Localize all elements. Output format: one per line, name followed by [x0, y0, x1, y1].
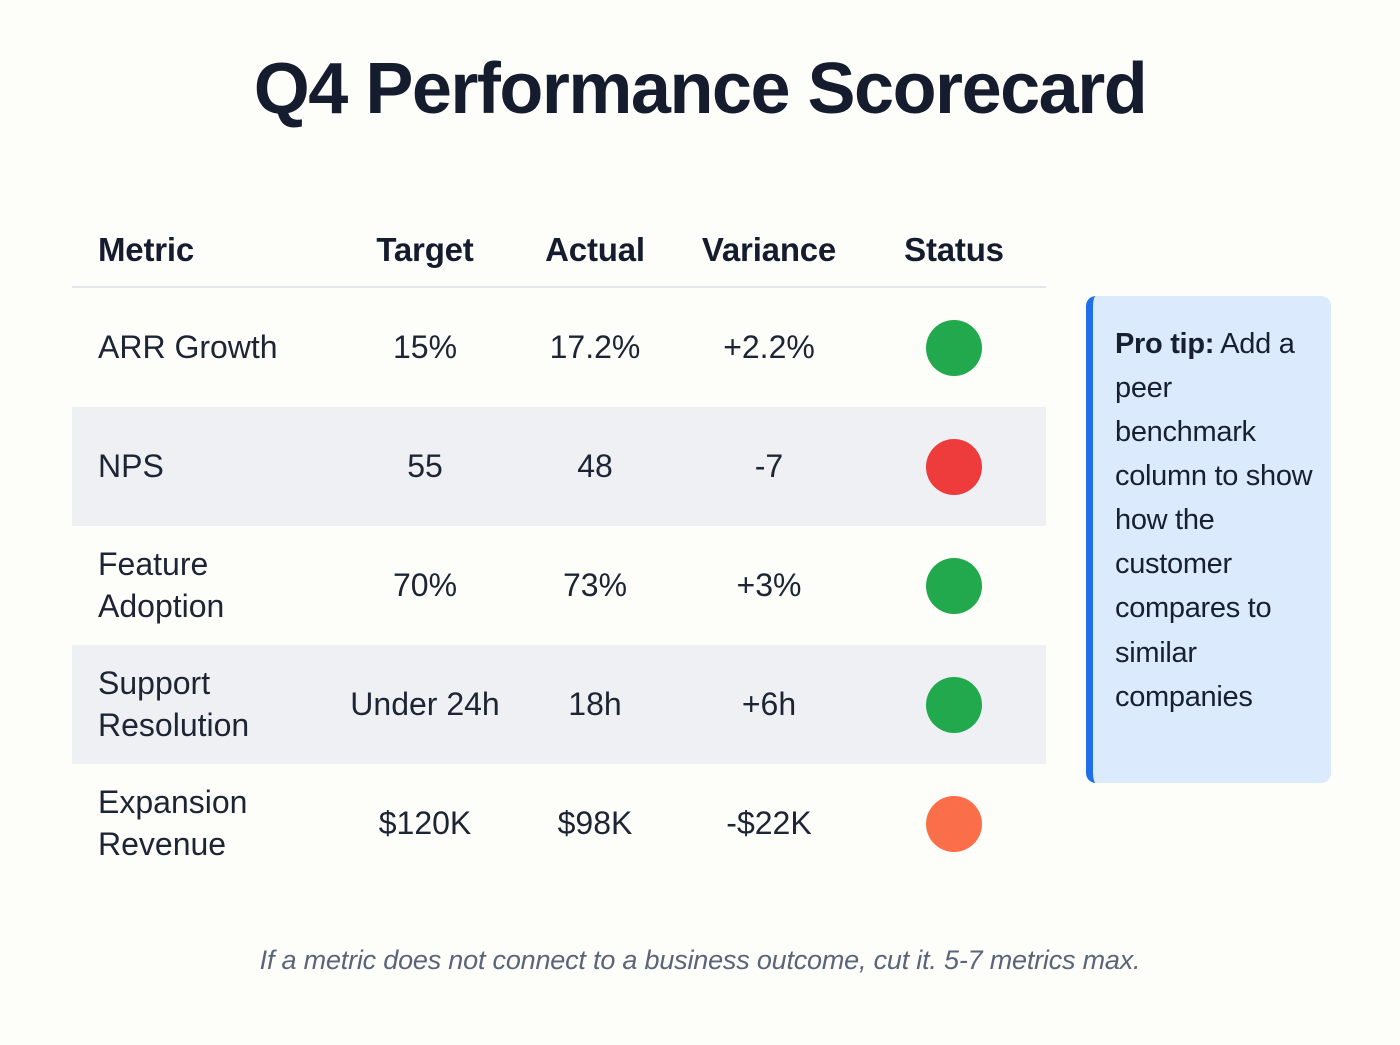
cell-variance: +6h: [676, 684, 862, 726]
cell-actual: 48: [514, 446, 676, 488]
cell-status: [862, 796, 1046, 852]
cell-actual: 18h: [514, 684, 676, 726]
cell-target: $120K: [336, 803, 514, 845]
scorecard-table: Metric Target Actual Variance Status ARR…: [72, 214, 1046, 883]
cell-target: 15%: [336, 327, 514, 369]
table-row: Feature Adoption 70% 73% +3%: [72, 526, 1046, 645]
cell-actual: 73%: [514, 565, 676, 607]
page-title: Q4 Performance Scorecard: [0, 52, 1400, 128]
cell-actual: $98K: [514, 803, 676, 845]
pro-tip-label: Pro tip:: [1115, 328, 1214, 360]
table-row: NPS 55 48 -7: [72, 407, 1046, 526]
footer-note: If a metric does not connect to a busine…: [0, 945, 1400, 976]
cell-target: 70%: [336, 565, 514, 607]
cell-variance: +2.2%: [676, 327, 862, 369]
cell-metric: Feature Adoption: [72, 544, 336, 627]
table-header-row: Metric Target Actual Variance Status: [72, 214, 1046, 288]
scorecard-page: Q4 Performance Scorecard Metric Target A…: [0, 0, 1400, 1045]
cell-variance: +3%: [676, 565, 862, 607]
status-dot-icon: [926, 320, 982, 376]
status-dot-icon: [926, 677, 982, 733]
cell-metric: Expansion Revenue: [72, 782, 336, 865]
table-row: ARR Growth 15% 17.2% +2.2%: [72, 288, 1046, 407]
cell-status: [862, 439, 1046, 495]
cell-target: Under 24h: [336, 684, 514, 726]
column-header-target: Target: [336, 231, 514, 269]
cell-variance: -7: [676, 446, 862, 488]
column-header-actual: Actual: [514, 231, 676, 269]
cell-variance: -$22K: [676, 803, 862, 845]
cell-metric: Support Resolution: [72, 663, 336, 746]
table-row: Expansion Revenue $120K $98K -$22K: [72, 764, 1046, 883]
cell-actual: 17.2%: [514, 327, 676, 369]
cell-metric: ARR Growth: [72, 327, 336, 369]
cell-status: [862, 558, 1046, 614]
status-dot-icon: [926, 439, 982, 495]
pro-tip-callout: Pro tip: Add a peer benchmark column to …: [1086, 296, 1331, 783]
column-header-variance: Variance: [676, 231, 862, 269]
cell-status: [862, 320, 1046, 376]
table-row: Support Resolution Under 24h 18h +6h: [72, 645, 1046, 764]
cell-metric: NPS: [72, 446, 336, 488]
cell-status: [862, 677, 1046, 733]
cell-target: 55: [336, 446, 514, 488]
column-header-metric: Metric: [72, 231, 336, 269]
status-dot-icon: [926, 796, 982, 852]
column-header-status: Status: [862, 231, 1046, 269]
pro-tip-text: Add a peer benchmark column to show how …: [1115, 328, 1312, 713]
status-dot-icon: [926, 558, 982, 614]
